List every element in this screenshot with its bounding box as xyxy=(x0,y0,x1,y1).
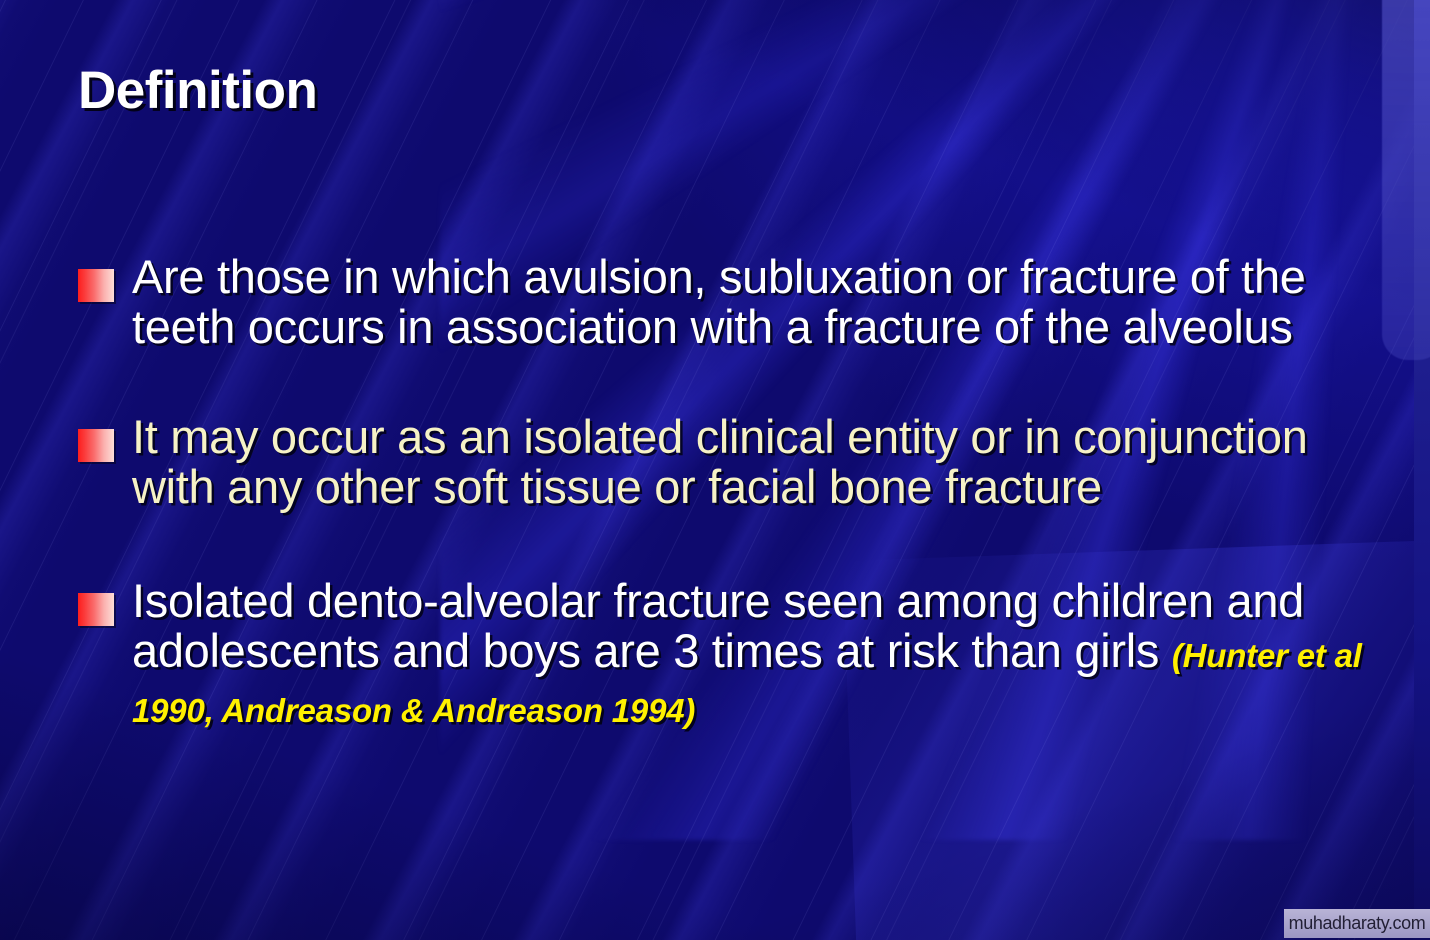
bullet-text: Isolated dento-alveolar fracture seen am… xyxy=(132,576,1368,736)
bullet-text-main: Isolated dento-alveolar fracture seen am… xyxy=(132,574,1304,677)
bullet-list: Are those in which avulsion, subluxation… xyxy=(78,252,1368,736)
bullet-square-icon xyxy=(78,593,114,626)
bullet-square-icon xyxy=(78,269,114,302)
watermark-label: muhadharaty.com xyxy=(1289,913,1426,934)
page-title: Definition xyxy=(78,60,317,121)
site-watermark: muhadharaty.com xyxy=(1284,909,1430,938)
spacer xyxy=(78,512,1368,576)
bullet-text: Are those in which avulsion, subluxation… xyxy=(132,252,1368,352)
spacer xyxy=(78,352,1368,412)
bullet-text: It may occur as an isolated clinical ent… xyxy=(132,412,1368,512)
list-item: It may occur as an isolated clinical ent… xyxy=(78,412,1368,512)
slide-content: Definition Are those in which avulsion, … xyxy=(0,0,1430,940)
list-item: Isolated dento-alveolar fracture seen am… xyxy=(78,576,1368,736)
bullet-square-icon xyxy=(78,429,114,462)
presentation-slide: Definition Are those in which avulsion, … xyxy=(0,0,1430,940)
list-item: Are those in which avulsion, subluxation… xyxy=(78,252,1368,352)
